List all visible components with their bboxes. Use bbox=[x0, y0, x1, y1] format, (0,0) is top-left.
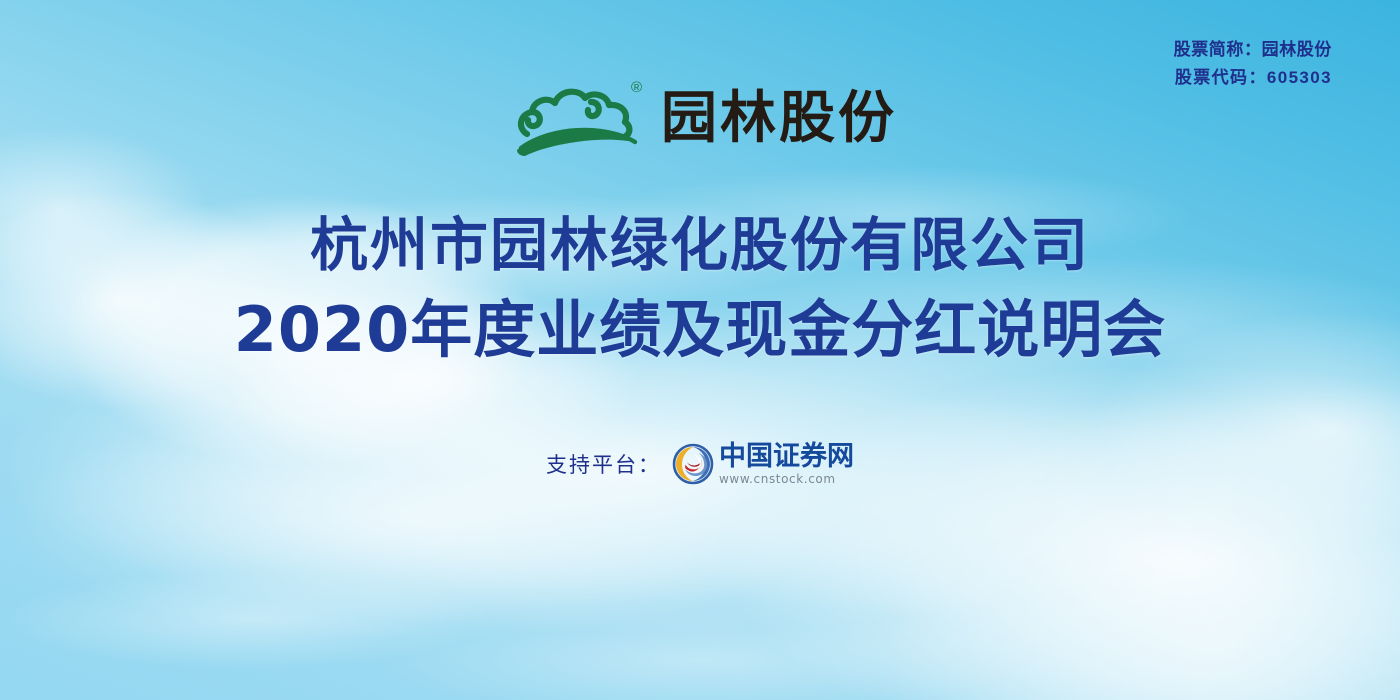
registered-trademark-icon: ® bbox=[631, 80, 642, 95]
support-platform: 支持平台： bbox=[0, 442, 1400, 487]
brand-lockup: ® 园林股份 bbox=[0, 78, 1400, 164]
stock-name-line: 股票简称：园林股份 bbox=[1174, 36, 1332, 64]
support-platform-label: 支持平台： bbox=[546, 449, 661, 479]
cnstock-text-block: 中国证券网 www.cnstock.com bbox=[719, 442, 854, 487]
cnstock-swirl-icon bbox=[671, 442, 715, 486]
brand-name: 园林股份 bbox=[661, 91, 897, 147]
cnstock-logo[interactable]: 中国证券网 www.cnstock.com bbox=[671, 442, 854, 487]
cloud-glow-bottom-right bbox=[880, 380, 1400, 700]
page-title: 杭州市园林绿化股份有限公司 2020年度业绩及现金分红说明会 bbox=[0, 212, 1400, 366]
cnstock-url: www.cnstock.com bbox=[719, 472, 854, 486]
garden-tree-canopy-icon: ® bbox=[503, 78, 643, 164]
page-title-line-2: 2020年度业绩及现金分红说明会 bbox=[0, 294, 1400, 367]
page-title-line-1: 杭州市园林绿化股份有限公司 bbox=[0, 212, 1400, 280]
cnstock-name: 中国证券网 bbox=[719, 443, 854, 471]
event-banner: 股票简称：园林股份 股票代码：605303 ® 园林股份 bbox=[0, 0, 1400, 700]
